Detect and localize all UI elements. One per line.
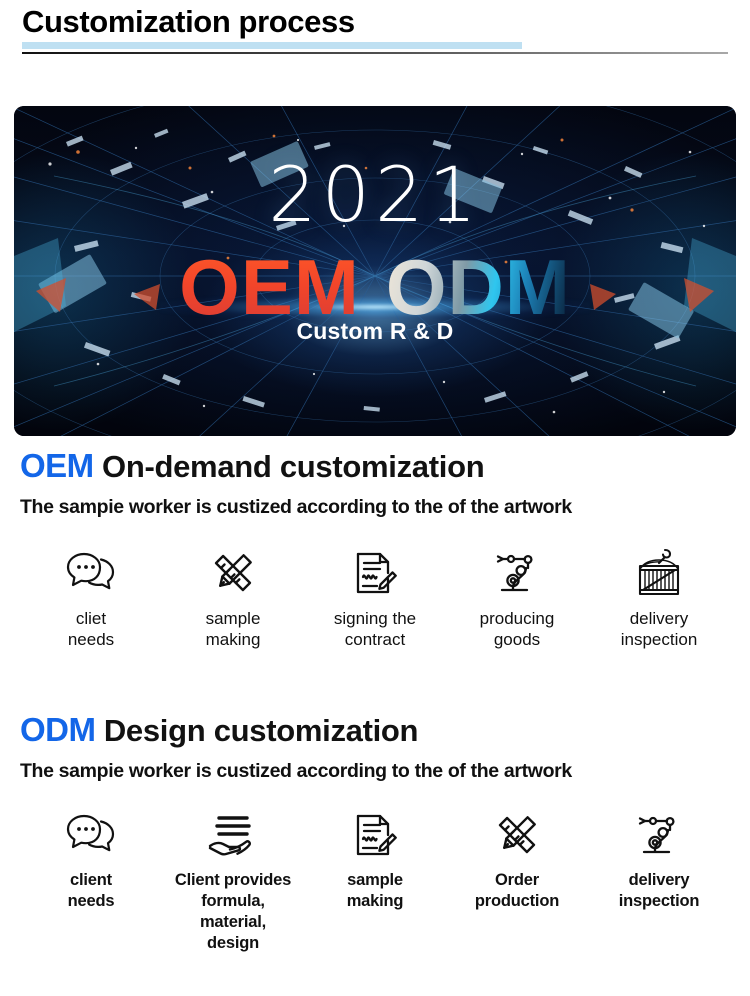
section-odm-heading: ODM Design customization (20, 712, 750, 748)
step-producing-goods: producinggoods (452, 547, 582, 652)
section-oem: OEM On-demand customization The sampie w… (0, 448, 750, 651)
contract-signing-icon (349, 809, 401, 861)
chat-bubbles-icon (65, 809, 117, 861)
contract-signing-icon (349, 547, 401, 599)
pencil-ruler-icon (207, 547, 259, 599)
step-order-production: Orderproduction (452, 809, 582, 912)
hero-banner: 2021 OEMODM Custom R & D (14, 106, 736, 436)
section-oem-subtitle: The sampie worker is custized according … (20, 496, 750, 519)
step-label: deliveryinspection (621, 608, 698, 652)
section-oem-steps: clietneeds (0, 547, 750, 652)
step-label: clientneeds (68, 870, 115, 912)
step-label: Orderproduction (475, 870, 559, 912)
title-divider-rule (22, 52, 728, 54)
step-delivery-inspection: deliveryinspection (594, 809, 724, 912)
section-odm-title: Design customization (104, 713, 418, 748)
step-sample-making: samplemaking (168, 547, 298, 652)
step-delivery-inspection: deliveryinspection (594, 547, 724, 652)
step-label: samplemaking (206, 608, 261, 652)
step-label: samplemaking (347, 870, 404, 912)
crate-hook-icon (633, 547, 685, 599)
section-oem-title: On-demand customization (102, 449, 484, 484)
customization-process-page: Customization process (0, 0, 750, 996)
step-client-provides: Client providesformula,material,design (168, 809, 298, 954)
chat-bubbles-icon (65, 547, 117, 599)
step-signing-the-contract: signing thecontract (310, 547, 440, 652)
step-label: producinggoods (480, 608, 555, 652)
section-oem-heading: OEM On-demand customization (20, 448, 750, 484)
step-sample-making: samplemaking (310, 809, 440, 912)
hand-document-icon (207, 809, 259, 861)
banner-year: 2021 (14, 150, 736, 239)
robot-arm-icon (633, 809, 685, 861)
banner-tagline: Custom R & D (14, 318, 736, 345)
section-odm-tag: ODM (20, 711, 96, 748)
section-odm-steps: clientneeds Client provid (0, 809, 750, 954)
banner-wordmark: OEMODM (14, 248, 736, 326)
step-client-needs: clientneeds (26, 809, 156, 912)
page-header: Customization process (0, 0, 750, 62)
section-oem-tag: OEM (20, 447, 94, 484)
step-label: signing thecontract (334, 608, 416, 652)
pencil-ruler-icon (491, 809, 543, 861)
title-accent-underline (22, 42, 522, 49)
robot-arm-icon (491, 547, 543, 599)
section-odm: ODM Design customization The sampie work… (0, 712, 750, 954)
step-cliet-needs: clietneeds (26, 547, 156, 652)
step-label: clietneeds (68, 608, 114, 652)
step-label: deliveryinspection (619, 870, 700, 912)
step-label: Client providesformula,material,design (175, 870, 291, 954)
section-odm-subtitle: The sampie worker is custized according … (20, 760, 750, 783)
page-title: Customization process (22, 4, 355, 40)
